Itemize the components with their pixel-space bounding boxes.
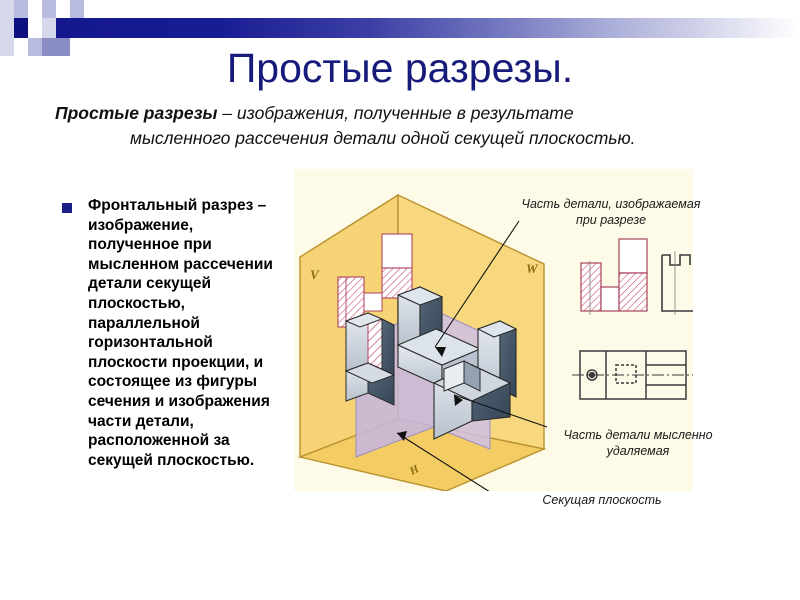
bullet-list-item: Фронтальный разрез – изображение, получе… [62, 196, 294, 470]
axis-label-w: W [526, 261, 539, 276]
definition-term: Простые разрезы [55, 103, 217, 123]
callout-depicted-part: Часть детали, изображаемая при разрезе [480, 196, 742, 228]
header-gradient-bar [56, 18, 800, 38]
definition-rest: – изображения, полученные в результате [217, 103, 573, 123]
axis-label-v: V [310, 267, 320, 282]
deco-square [14, 0, 28, 18]
callout-removed-part: Часть детали мысленно удаляемая [522, 427, 754, 459]
square-bullet-icon [62, 203, 72, 213]
bullet-item-label: Фронтальный разрез – изображение, получе… [88, 196, 288, 470]
orthographic-front-view [581, 239, 647, 315]
deco-square [56, 0, 70, 18]
page-title: Простые разрезы. [0, 44, 800, 92]
callout-cutting-plane: Секущая плоскость [492, 492, 712, 508]
deco-square [14, 18, 28, 38]
deco-square [28, 18, 42, 38]
definition-line2: мысленного рассечения детали одной секущ… [55, 126, 695, 151]
deco-square [70, 0, 84, 18]
deco-square [42, 0, 56, 18]
slide: Простые разрезы. Простые разрезы – изобр… [0, 0, 800, 600]
orthographic-side-view [662, 251, 693, 315]
deco-square [42, 18, 56, 38]
definition-text: Простые разрезы – изображения, полученны… [55, 101, 695, 151]
deco-square [28, 0, 42, 18]
orthographic-top-view [572, 351, 693, 399]
deco-square [0, 18, 14, 38]
deco-square [0, 0, 14, 18]
